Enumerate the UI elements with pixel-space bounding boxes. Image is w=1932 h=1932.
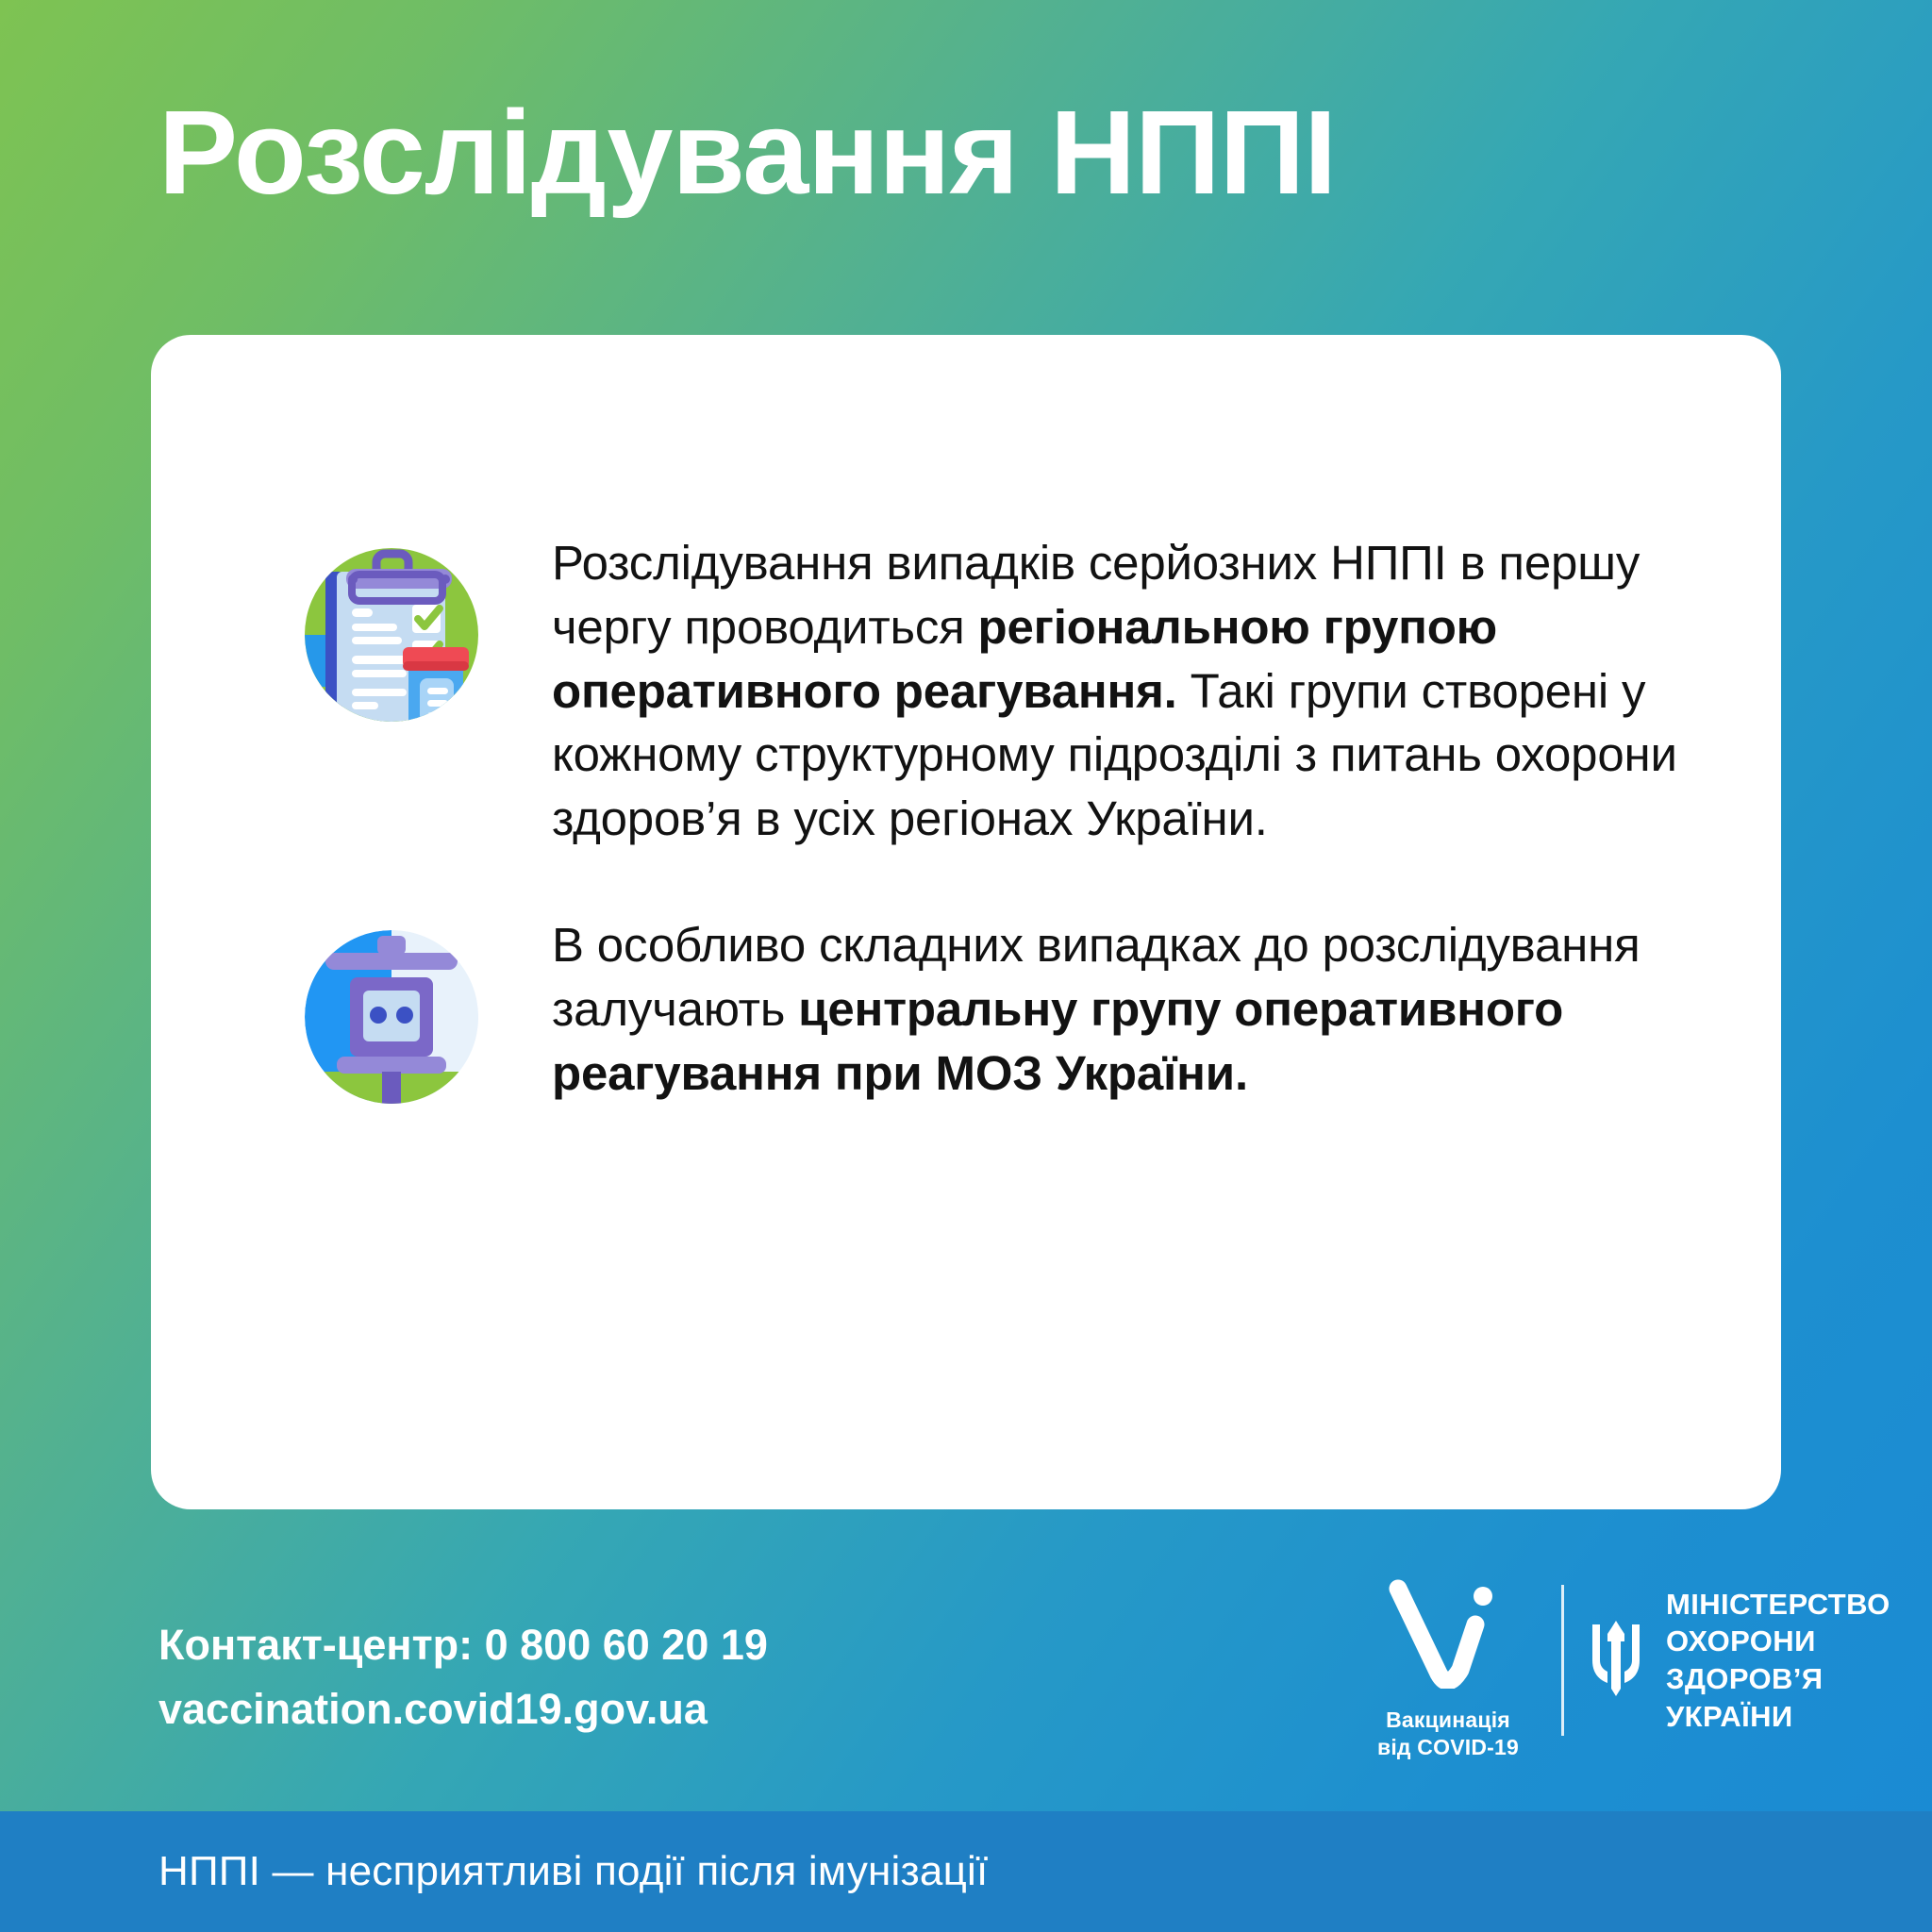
ministry-line-4: УКРАЇНИ: [1666, 1698, 1890, 1736]
footer: Контакт-центр: 0 800 60 20 19 vaccinatio…: [0, 1566, 1932, 1840]
ministry-line-2: ОХОРОНИ: [1666, 1623, 1890, 1660]
content-rows: Розслідування випадків серйозних НППІ в …: [275, 531, 1696, 1111]
contact-center-line: Контакт-центр: 0 800 60 20 19: [158, 1613, 768, 1677]
microscope-icon: [297, 923, 486, 1111]
icon-slot: [275, 913, 507, 1111]
vaccination-logo-caption: Вакцинація від COVID-19: [1349, 1707, 1547, 1761]
vaccination-logo: Вакцинація від COVID-19: [1349, 1575, 1547, 1761]
ukraine-trident-icon: [1587, 1619, 1645, 1702]
v-checkmark-logo: [1377, 1575, 1519, 1689]
content-card: Розслідування випадків серйозних НППІ в …: [151, 335, 1781, 1509]
ministry-line-1: МІНІСТЕРСТВО: [1666, 1586, 1890, 1624]
ministry-logo: МІНІСТЕРСТВО ОХОРОНИ ЗДОРОВ’Я УКРАЇНИ: [1561, 1585, 1890, 1736]
ministry-logo-text: МІНІСТЕРСТВО ОХОРОНИ ЗДОРОВ’Я УКРАЇНИ: [1666, 1586, 1890, 1736]
vaccination-caption-line2: від COVID-19: [1349, 1734, 1547, 1761]
ministry-line-3: ЗДОРОВ’Я: [1666, 1660, 1890, 1698]
icon-slot: [275, 531, 507, 729]
website-line[interactable]: vaccination.covid19.gov.ua: [158, 1677, 768, 1741]
vaccination-caption-line1: Вакцинація: [1349, 1707, 1547, 1734]
content-row: В особливо складних випадках до розсліду…: [275, 913, 1696, 1111]
clipboard-checklist-vial-icon: [297, 541, 486, 729]
row-text: В особливо складних випадках до розсліду…: [507, 913, 1696, 1105]
page-title: Розслідування НППІ: [158, 90, 1819, 216]
bottom-bar: НППІ — несприятливі події після імунізац…: [0, 1811, 1932, 1932]
poster-root: Розслідування НППІ: [0, 0, 1932, 1932]
logo-divider: [1561, 1585, 1564, 1736]
content-row: Розслідування випадків серйозних НППІ в …: [275, 531, 1696, 851]
contact-block: Контакт-центр: 0 800 60 20 19 vaccinatio…: [158, 1613, 768, 1742]
row-text: Розслідування випадків серйозних НППІ в …: [507, 531, 1696, 851]
bottom-bar-text: НППІ — несприятливі події після імунізац…: [158, 1848, 988, 1895]
